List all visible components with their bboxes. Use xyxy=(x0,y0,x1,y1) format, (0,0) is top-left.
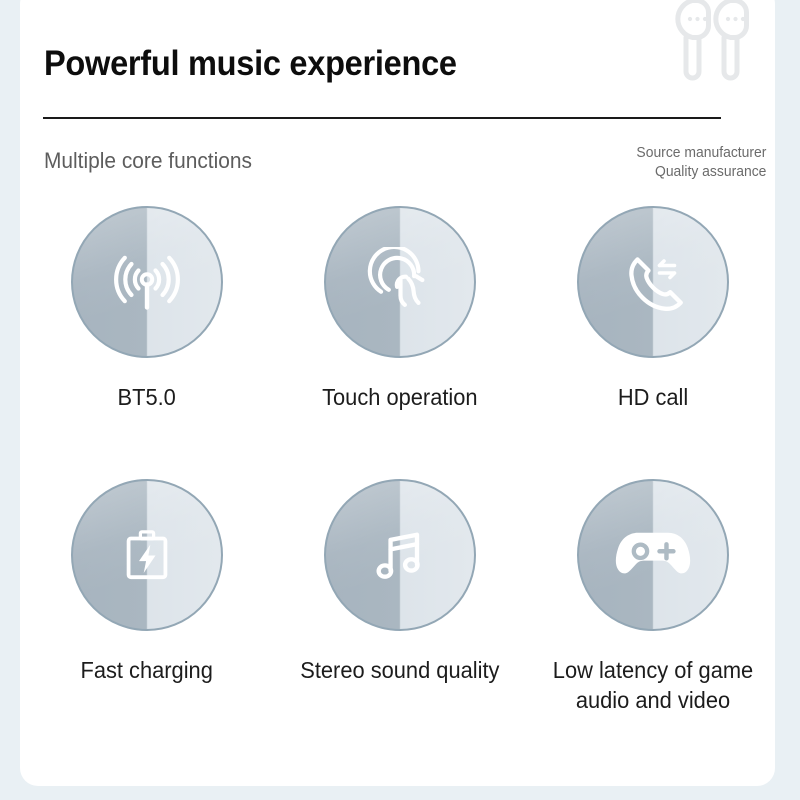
gamepad-icon xyxy=(614,525,692,585)
feature-item-fast-charging[interactable]: Fast charging xyxy=(20,479,273,752)
feature-icon-disc xyxy=(71,479,223,631)
feature-item-stereo-sound[interactable]: Stereo sound quality xyxy=(273,479,526,752)
feature-icon-disc xyxy=(577,479,729,631)
feature-grid: BT5.0 xyxy=(20,206,780,752)
earbuds-icon xyxy=(668,0,754,88)
feature-row-1: BT5.0 xyxy=(20,206,780,479)
fingerprint-touch-icon xyxy=(365,247,435,317)
tagline-line-1: Source manufacturer xyxy=(636,144,766,163)
music-note-icon xyxy=(366,521,434,589)
tagline: Source manufacturer Quality assurance xyxy=(636,144,766,182)
feature-label: Touch operation xyxy=(322,382,478,412)
feature-item-touch-operation[interactable]: Touch operation xyxy=(273,206,526,479)
tagline-line-2: Quality assurance xyxy=(636,163,766,182)
feature-item-hd-call[interactable]: HD call xyxy=(527,206,780,479)
feature-row-2: Fast charging xyxy=(20,479,780,752)
feature-item-low-latency[interactable]: Low latency of game audio and video xyxy=(527,479,780,752)
disc-background xyxy=(324,206,476,358)
section-subtitle: Multiple core functions xyxy=(44,148,252,174)
header-divider xyxy=(43,117,721,119)
feature-icon-disc xyxy=(71,206,223,358)
feature-label: BT5.0 xyxy=(117,382,175,412)
feature-label: HD call xyxy=(618,382,688,412)
disc-background xyxy=(71,206,223,358)
feature-label: Low latency of game audio and video xyxy=(544,655,763,715)
feature-item-bt5[interactable]: BT5.0 xyxy=(20,206,273,479)
wireless-signal-icon xyxy=(111,246,183,318)
feature-label: Stereo sound quality xyxy=(300,655,499,685)
disc-background xyxy=(71,479,223,631)
page-title: Powerful music experience xyxy=(44,44,457,84)
feature-icon-disc xyxy=(577,206,729,358)
disc-background xyxy=(577,479,729,631)
phone-handset-transfer-icon xyxy=(617,246,689,318)
disc-background xyxy=(324,479,476,631)
product-feature-banner: Powerful music experience Multiple core … xyxy=(0,0,800,800)
feature-label: Fast charging xyxy=(80,655,212,685)
feature-icon-disc xyxy=(324,479,476,631)
disc-background xyxy=(577,206,729,358)
feature-icon-disc xyxy=(324,206,476,358)
battery-lightning-icon xyxy=(113,521,181,589)
